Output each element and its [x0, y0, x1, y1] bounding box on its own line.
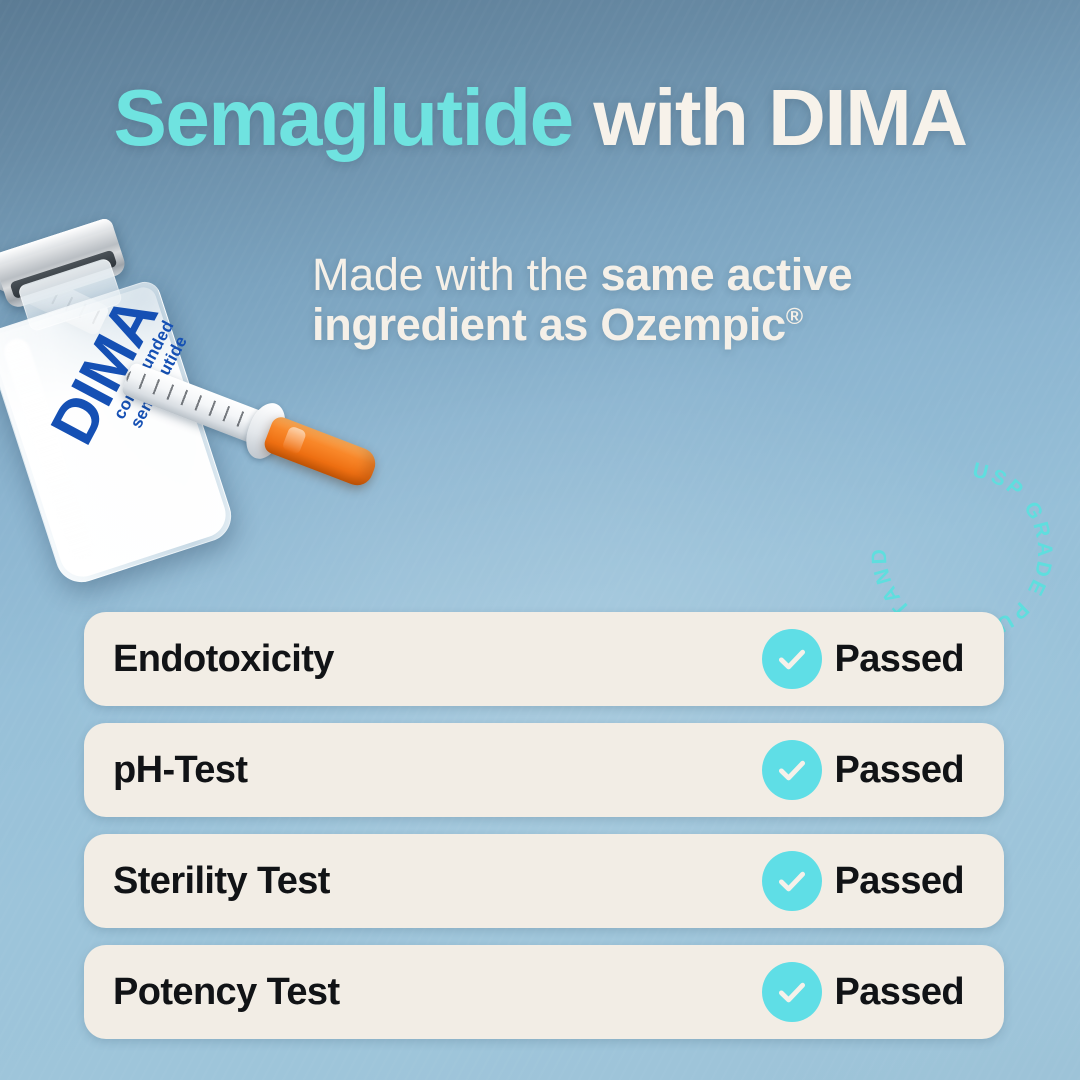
product-photo: DIMA compounded semaglutide	[0, 195, 390, 595]
status-badge: Passed	[835, 860, 965, 903]
check-glyph	[775, 642, 809, 676]
check-glyph	[775, 975, 809, 1009]
page-title-brand-word: Semaglutide	[114, 73, 573, 162]
check-circle-icon	[762, 851, 822, 911]
status-badge: Passed	[835, 749, 965, 792]
status-badge: Passed	[835, 971, 965, 1014]
registered-trademark-icon: ®	[786, 303, 803, 329]
subtitle: Made with the same active ingredient as …	[312, 250, 992, 351]
check-circle-icon	[762, 740, 822, 800]
check-circle-icon	[762, 629, 822, 689]
test-name: Sterility Test	[113, 860, 330, 903]
result-group: Passed	[762, 629, 965, 689]
status-badge: Passed	[835, 638, 965, 681]
page-title-suffix: with DIMA	[573, 73, 967, 162]
check-circle-icon	[762, 962, 822, 1022]
table-row[interactable]: pH-Test Passed	[84, 723, 1004, 817]
subtitle-bold-text-1: same active	[600, 249, 852, 300]
check-glyph	[775, 864, 809, 898]
test-name: Endotoxicity	[113, 638, 334, 681]
table-row[interactable]: Endotoxicity Passed	[84, 612, 1004, 706]
check-glyph	[775, 753, 809, 787]
table-row[interactable]: Potency Test Passed	[84, 945, 1004, 1039]
test-results-list: Endotoxicity Passed pH-Test Passed Steri…	[84, 612, 1004, 1056]
result-group: Passed	[762, 740, 965, 800]
test-name: pH-Test	[113, 749, 247, 792]
table-row[interactable]: Sterility Test Passed	[84, 834, 1004, 928]
page-title: Semaglutide with DIMA	[0, 78, 1080, 158]
result-group: Passed	[762, 962, 965, 1022]
test-name: Potency Test	[113, 971, 340, 1014]
result-group: Passed	[762, 851, 965, 911]
